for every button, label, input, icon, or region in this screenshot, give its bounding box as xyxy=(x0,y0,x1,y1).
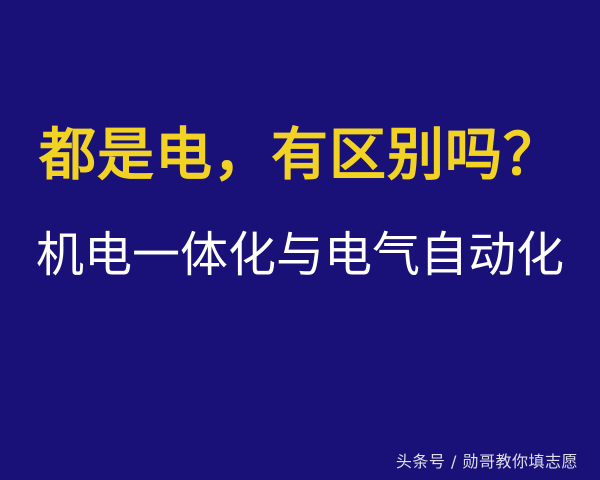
subtitle-block: 机电一体化与电气自动化 xyxy=(0,230,600,280)
slide-canvas: 都是电，有区别吗？ 机电一体化与电气自动化 头条号 / 勋哥教你填志愿 xyxy=(0,0,600,480)
title-block: 都是电，有区别吗？ xyxy=(0,126,600,184)
page-title: 都是电，有区别吗？ xyxy=(0,126,600,184)
page-subtitle: 机电一体化与电气自动化 xyxy=(0,230,600,280)
watermark-credit: 头条号 / 勋哥教你填志愿 xyxy=(396,452,578,472)
